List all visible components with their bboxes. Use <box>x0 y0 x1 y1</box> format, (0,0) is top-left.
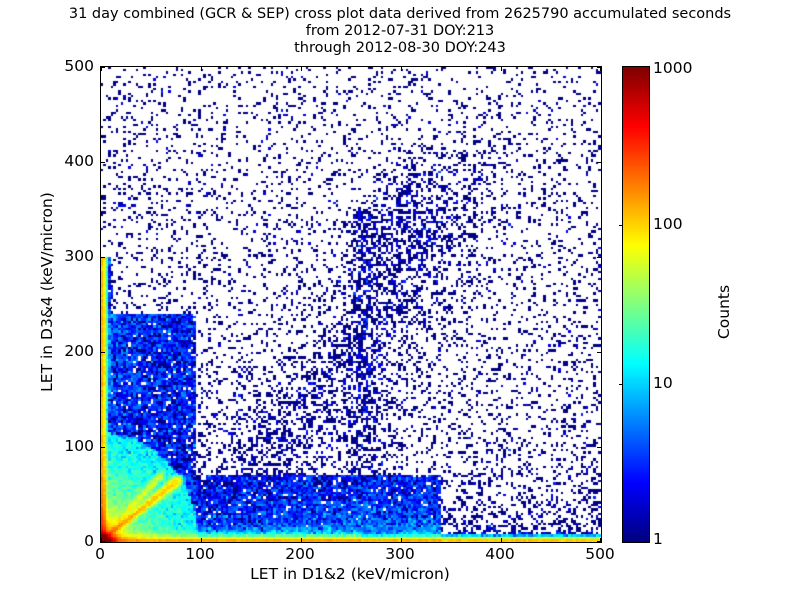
x-axis-tick <box>401 67 402 71</box>
x-axis-tick-label: 100 <box>185 545 215 563</box>
plot-area <box>100 66 602 543</box>
y-axis-tick <box>101 257 105 258</box>
colorbar-tick <box>619 225 623 226</box>
colorbar-tick-label: 1000 <box>653 59 692 77</box>
y-axis-label: LET in D3&4 (keV/micron) <box>38 142 56 442</box>
y-axis-tick <box>101 67 105 68</box>
y-axis-tick <box>101 352 105 353</box>
y-axis-tick <box>597 541 601 542</box>
colorbar-gradient <box>623 67 649 542</box>
y-axis-tick <box>597 67 601 68</box>
y-axis-tick-label: 0 <box>84 532 94 550</box>
colorbar-tick <box>619 384 623 385</box>
y-axis-tick-label: 500 <box>64 57 94 75</box>
x-axis-tick-label: 500 <box>585 545 615 563</box>
y-axis-tick-label: 400 <box>64 152 94 170</box>
x-axis-tick <box>301 67 302 71</box>
y-axis-tick <box>101 541 105 542</box>
figure-canvas: 31 day combined (GCR & SEP) cross plot d… <box>0 0 800 600</box>
title-line-2: from 2012-07-31 DOY:213 <box>0 23 800 40</box>
y-axis-tick-label: 300 <box>64 247 94 265</box>
y-axis-tick <box>101 162 105 163</box>
y-axis-tick <box>101 447 105 448</box>
colorbar-label: Counts <box>715 212 733 412</box>
x-axis-tick-label: 400 <box>485 545 515 563</box>
title-line-3: through 2012-08-30 DOY:243 <box>0 40 800 57</box>
scatter-heatmap-canvas <box>101 67 601 542</box>
figure-title: 31 day combined (GCR & SEP) cross plot d… <box>0 6 800 57</box>
y-axis-tick <box>597 447 601 448</box>
x-axis-tick-label: 300 <box>385 545 415 563</box>
colorbar-tick-label: 10 <box>653 374 673 392</box>
y-axis-tick-label: 100 <box>64 437 94 455</box>
colorbar <box>622 66 650 543</box>
y-axis-tick <box>597 352 601 353</box>
y-axis-tick-label: 200 <box>64 342 94 360</box>
x-axis-tick-label: 0 <box>95 545 105 563</box>
x-axis-tick <box>201 67 202 71</box>
x-axis-tick <box>301 538 302 542</box>
x-axis-label: LET in D1&2 (keV/micron) <box>100 565 600 583</box>
x-axis-tick <box>501 538 502 542</box>
colorbar-tick-label: 1 <box>653 530 663 548</box>
y-axis-tick <box>597 162 601 163</box>
title-line-1: 31 day combined (GCR & SEP) cross plot d… <box>0 6 800 23</box>
colorbar-tick-label: 100 <box>653 215 683 233</box>
x-axis-tick-label: 200 <box>285 545 315 563</box>
x-axis-tick <box>501 67 502 71</box>
x-axis-tick <box>201 538 202 542</box>
x-axis-tick <box>401 538 402 542</box>
y-axis-tick <box>597 257 601 258</box>
